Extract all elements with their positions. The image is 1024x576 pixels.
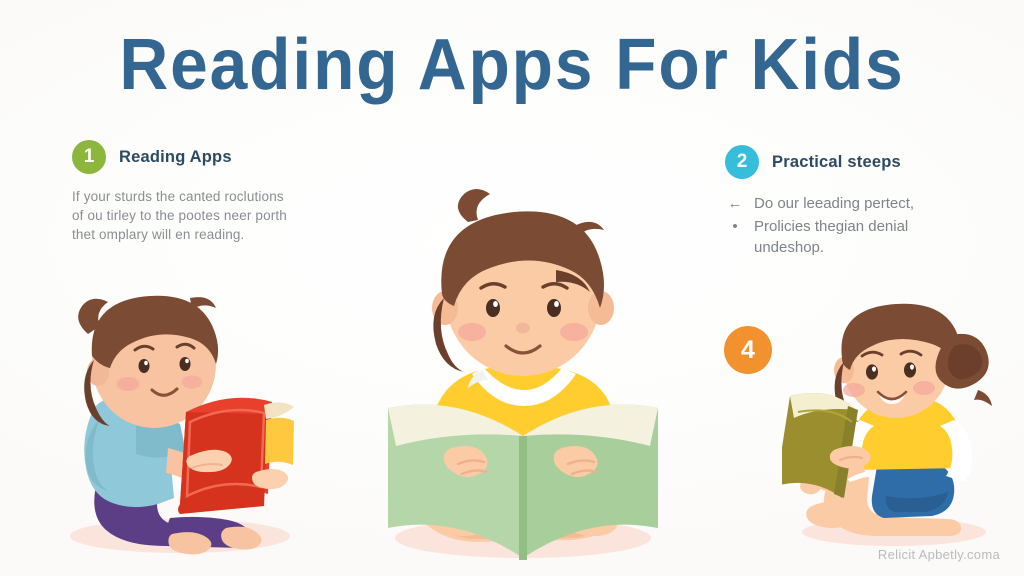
body-line: Do our leeading pertect,	[754, 193, 914, 214]
list-item-text: Prolicies thegian denial undeshop.	[754, 216, 908, 258]
section-1-body: If your sturds the canted roclutions of …	[72, 187, 372, 244]
infographic-canvas: Reading Apps For Kids 1 Reading Apps If …	[0, 0, 1024, 576]
section-2-bullet-list: ← Do our leeading pertect, • Prolicies t…	[725, 193, 1015, 258]
section-reading-apps: 1 Reading Apps If your sturds the canted…	[72, 140, 372, 244]
section-2-title: Practical steeps	[772, 153, 901, 172]
section-practical-steps: 2 Practical steeps ← Do our leeading per…	[725, 145, 1015, 260]
watermark-text: Relicit Apbetly.coma	[878, 547, 1000, 562]
arrow-left-icon: ←	[725, 193, 745, 214]
child-reading-red-book-illustration	[40, 272, 310, 562]
body-line: undeshop.	[754, 237, 908, 258]
body-line: thet omplary will en reading.	[72, 225, 372, 244]
step-badge-1: 1	[72, 140, 106, 174]
page-title: Reading Apps For Kids	[31, 22, 994, 108]
dot-bullet-icon: •	[725, 216, 745, 237]
child-reading-yellow-book-illustration	[782, 300, 1002, 552]
body-line: of ou tirley to the pootes neer porth	[72, 206, 372, 225]
body-line: If your sturds the canted roclutions	[72, 187, 372, 206]
body-line: Prolicies thegian denial	[754, 216, 908, 237]
child-reading-green-book-illustration	[378, 186, 668, 562]
list-item: ← Do our leeading pertect,	[725, 193, 1015, 214]
list-item: • Prolicies thegian denial undeshop.	[725, 216, 1015, 258]
list-item-text: Do our leeading pertect,	[754, 193, 914, 214]
section-1-header: 1 Reading Apps	[72, 140, 372, 174]
section-1-title: Reading Apps	[119, 148, 232, 167]
step-badge-2: 2	[725, 145, 759, 179]
section-2-header: 2 Practical steeps	[725, 145, 1015, 179]
step-badge-4: 4	[724, 326, 772, 374]
